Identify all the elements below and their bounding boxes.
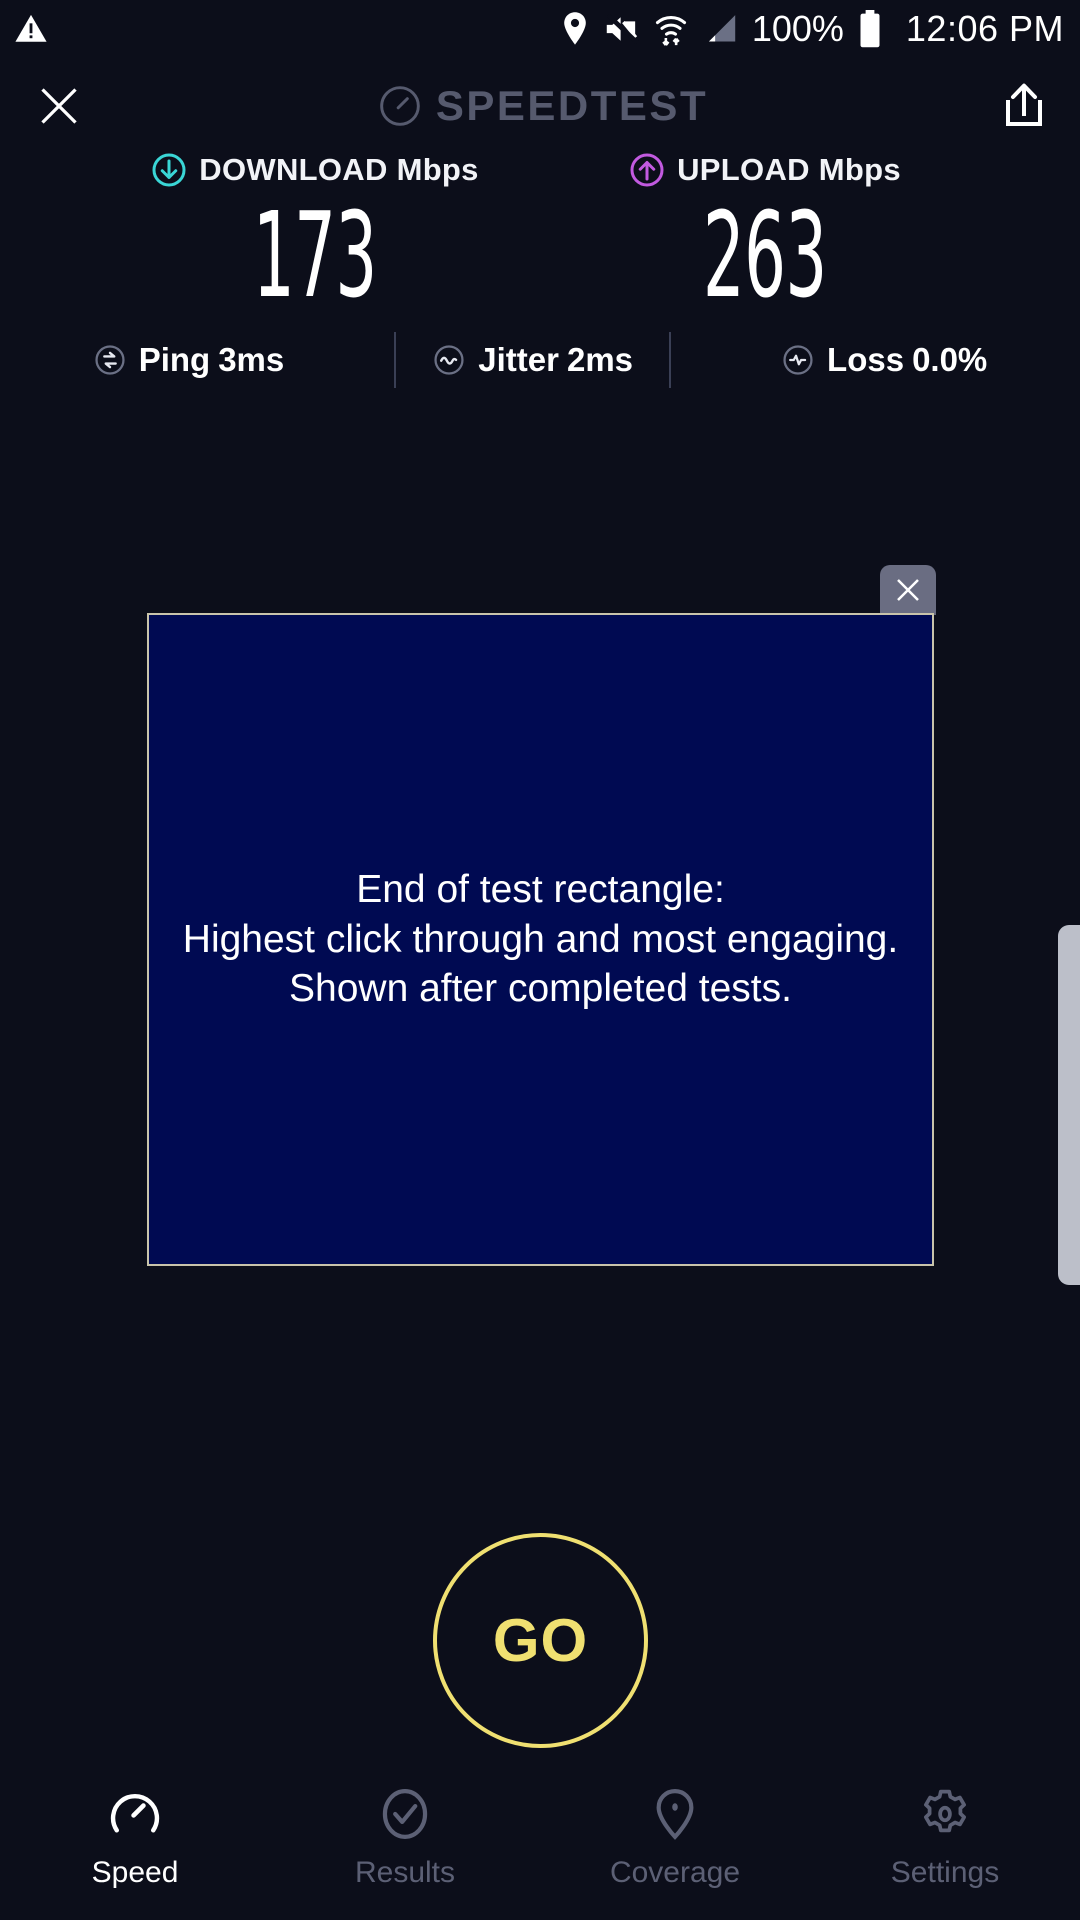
page-title: SPEEDTEST — [436, 82, 708, 130]
nav-item-settings[interactable]: Settings — [810, 1786, 1080, 1890]
ad-line-2: Highest click through and most engaging. — [183, 915, 898, 965]
mute-icon — [604, 12, 640, 46]
go-button-label: GO — [493, 1606, 588, 1675]
ad-line-1: End of test rectangle: — [183, 865, 898, 915]
wifi-icon — [654, 11, 688, 47]
advertisement-banner[interactable]: End of test rectangle: Highest click thr… — [147, 613, 934, 1266]
download-upload-row: DOWNLOAD Mbps 173 UPLOAD Mbps — [0, 148, 1080, 314]
network-stats-row: Ping3ms Jitter2ms — [0, 332, 1080, 388]
upload-metric: UPLOAD Mbps 263 — [575, 148, 955, 314]
speedometer-icon — [107, 1786, 163, 1842]
clock-label: 12:06 PM — [906, 8, 1064, 50]
nav-item-coverage[interactable]: Coverage — [540, 1786, 810, 1890]
nav-item-speed[interactable]: Speed — [0, 1786, 270, 1890]
speedtest-app-screen: 100% 12:06 PM SPEEDTEST — [0, 0, 1080, 1920]
nav-label-results: Results — [355, 1856, 455, 1890]
battery-percent-label: 100% — [752, 8, 844, 50]
nav-item-results[interactable]: Results — [270, 1786, 540, 1890]
stat-divider-2 — [669, 332, 671, 388]
brand-logo: SPEEDTEST — [378, 82, 708, 130]
upload-arrow-circle-icon — [629, 152, 665, 188]
upload-value: 263 — [703, 196, 827, 314]
ping-text: Ping3ms — [139, 341, 285, 379]
map-pin-icon — [647, 1786, 703, 1842]
ping-icon — [93, 343, 127, 377]
loss-text: Loss0.0% — [827, 341, 987, 379]
download-metric: DOWNLOAD Mbps 173 — [125, 148, 505, 314]
scrollbar-thumb[interactable] — [1058, 925, 1080, 1285]
gear-icon — [917, 1786, 973, 1842]
results-panel: DOWNLOAD Mbps 173 UPLOAD Mbps — [0, 148, 1080, 388]
nav-label-speed: Speed — [92, 1856, 179, 1890]
cellular-signal-icon — [702, 12, 738, 46]
loss-icon — [781, 343, 815, 377]
ad-line-3: Shown after completed tests. — [183, 964, 898, 1014]
status-bar-right: 100% 12:06 PM — [560, 8, 1064, 50]
check-circle-icon — [377, 1786, 433, 1842]
download-label: DOWNLOAD Mbps — [199, 152, 478, 188]
share-button[interactable] — [996, 75, 1052, 137]
jitter-icon — [432, 343, 466, 377]
warning-triangle-icon — [14, 12, 48, 46]
close-button[interactable] — [28, 75, 90, 137]
ad-close-button[interactable] — [880, 565, 936, 615]
upload-label: UPLOAD Mbps — [677, 152, 901, 188]
location-pin-icon — [560, 11, 590, 47]
go-button[interactable]: GO — [433, 1533, 648, 1748]
ping-stat: Ping3ms — [93, 341, 285, 379]
jitter-text: Jitter2ms — [478, 341, 633, 379]
loss-stat: Loss0.0% — [781, 341, 987, 379]
bottom-navigation-bar: Speed Results Coverage — [0, 1780, 1080, 1920]
stat-divider-1 — [394, 332, 396, 388]
jitter-stat: Jitter2ms — [432, 341, 633, 379]
ad-text: End of test rectangle: Highest click thr… — [183, 865, 898, 1015]
status-bar: 100% 12:06 PM — [0, 0, 1080, 58]
nav-label-coverage: Coverage — [610, 1856, 740, 1890]
status-bar-left — [14, 12, 48, 46]
app-header: SPEEDTEST — [0, 58, 1080, 154]
download-arrow-circle-icon — [151, 152, 187, 188]
speedometer-icon — [378, 84, 422, 128]
download-value: 173 — [253, 196, 377, 314]
nav-label-settings: Settings — [891, 1856, 999, 1890]
battery-full-icon — [858, 10, 882, 48]
